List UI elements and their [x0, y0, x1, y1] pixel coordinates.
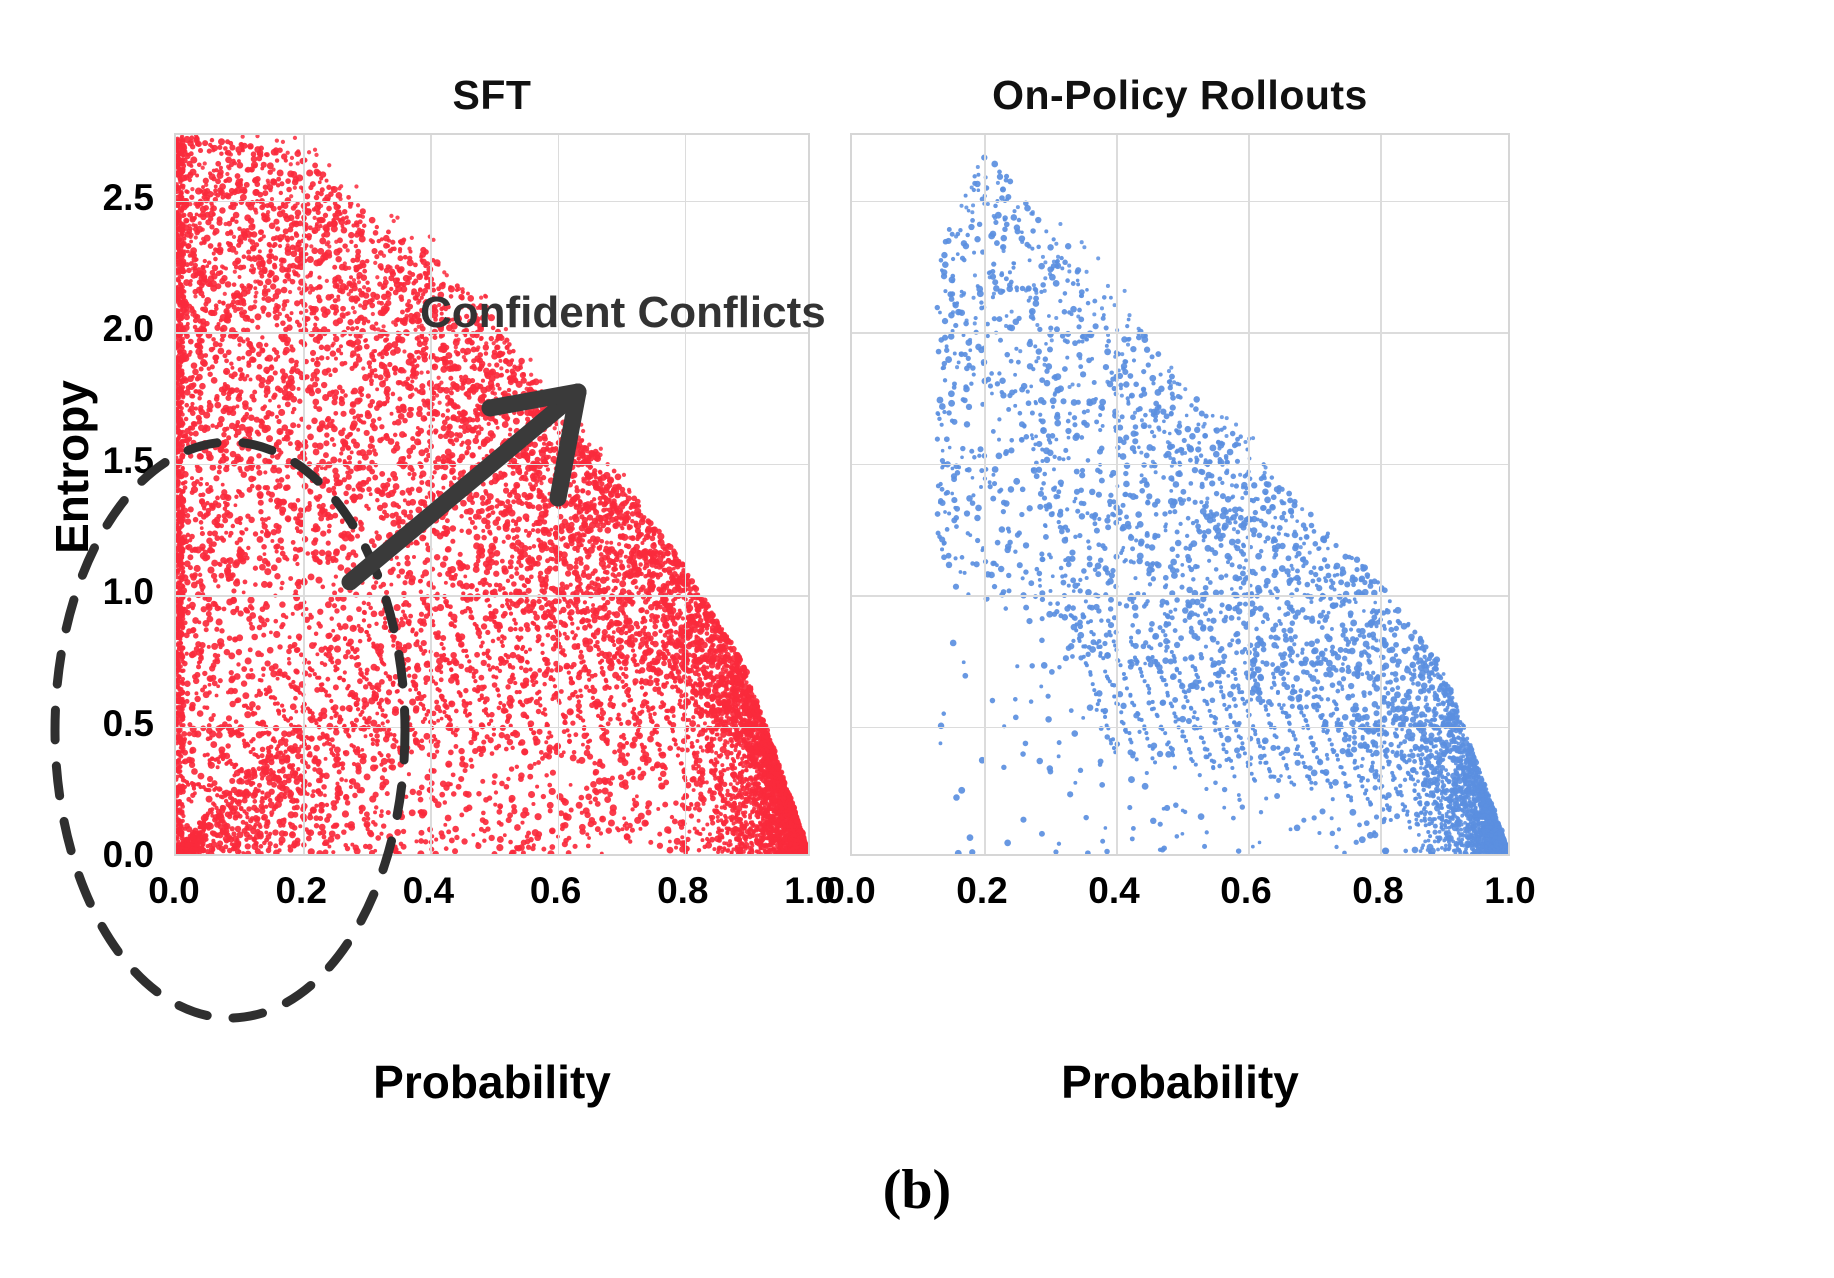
gridline-vertical — [303, 135, 305, 854]
x-tick-label: 0.4 — [368, 870, 488, 912]
scatter-layer-rollouts — [852, 135, 1508, 854]
gridline-vertical — [558, 135, 560, 854]
cropped-caption-strip — [0, 1252, 1834, 1278]
x-tick-label: 0.2 — [241, 870, 361, 912]
gridline-horizontal — [852, 332, 1508, 334]
gridline-vertical — [685, 135, 687, 854]
x-tick-label: 0.2 — [922, 870, 1042, 912]
x-tick-label: 1.0 — [1450, 870, 1570, 912]
gridline-horizontal — [852, 727, 1508, 729]
gridline-vertical — [1380, 135, 1382, 854]
plot-area-sft — [174, 133, 810, 856]
gridline-horizontal — [176, 727, 808, 729]
gridline-vertical — [430, 135, 432, 854]
panel-title-sft: SFT — [174, 72, 810, 119]
gridline-horizontal — [176, 464, 808, 466]
figure-panel-b: SFT On-Policy Rollouts 0.00.51.01.52.02.… — [0, 0, 1834, 1278]
annotation-label-confident-conflicts: Confident Conflicts — [420, 288, 826, 338]
gridline-horizontal — [852, 464, 1508, 466]
plot-area-on-policy-rollouts — [850, 133, 1510, 856]
x-axis-title-rollouts: Probability — [850, 1055, 1510, 1109]
gridline-horizontal — [852, 595, 1508, 597]
x-tick-label: 0.6 — [1186, 870, 1306, 912]
scatter-svg-sft — [176, 135, 808, 854]
scatter-svg-rollouts — [852, 135, 1508, 854]
x-tick-label: 0.6 — [496, 870, 616, 912]
x-tick-label: 0.8 — [623, 870, 743, 912]
panel-title-on-policy-rollouts: On-Policy Rollouts — [850, 72, 1510, 119]
scatter-layer-sft — [176, 135, 808, 854]
gridline-horizontal — [176, 595, 808, 597]
x-tick-label: 0.0 — [790, 870, 910, 912]
y-tick-label: 0.5 — [0, 703, 154, 745]
x-tick-label: 0.4 — [1054, 870, 1174, 912]
gridline-horizontal — [176, 201, 808, 203]
gridline-vertical — [1248, 135, 1250, 854]
x-tick-label: 0.8 — [1318, 870, 1438, 912]
y-tick-label: 2.5 — [0, 177, 154, 219]
subfigure-caption: (b) — [0, 1158, 1834, 1222]
y-axis-title: Entropy — [45, 317, 99, 617]
gridline-vertical — [984, 135, 986, 854]
gridline-horizontal — [852, 201, 1508, 203]
x-axis-title-sft: Probability — [174, 1055, 810, 1109]
gridline-vertical — [1116, 135, 1118, 854]
x-tick-label: 0.0 — [114, 870, 234, 912]
